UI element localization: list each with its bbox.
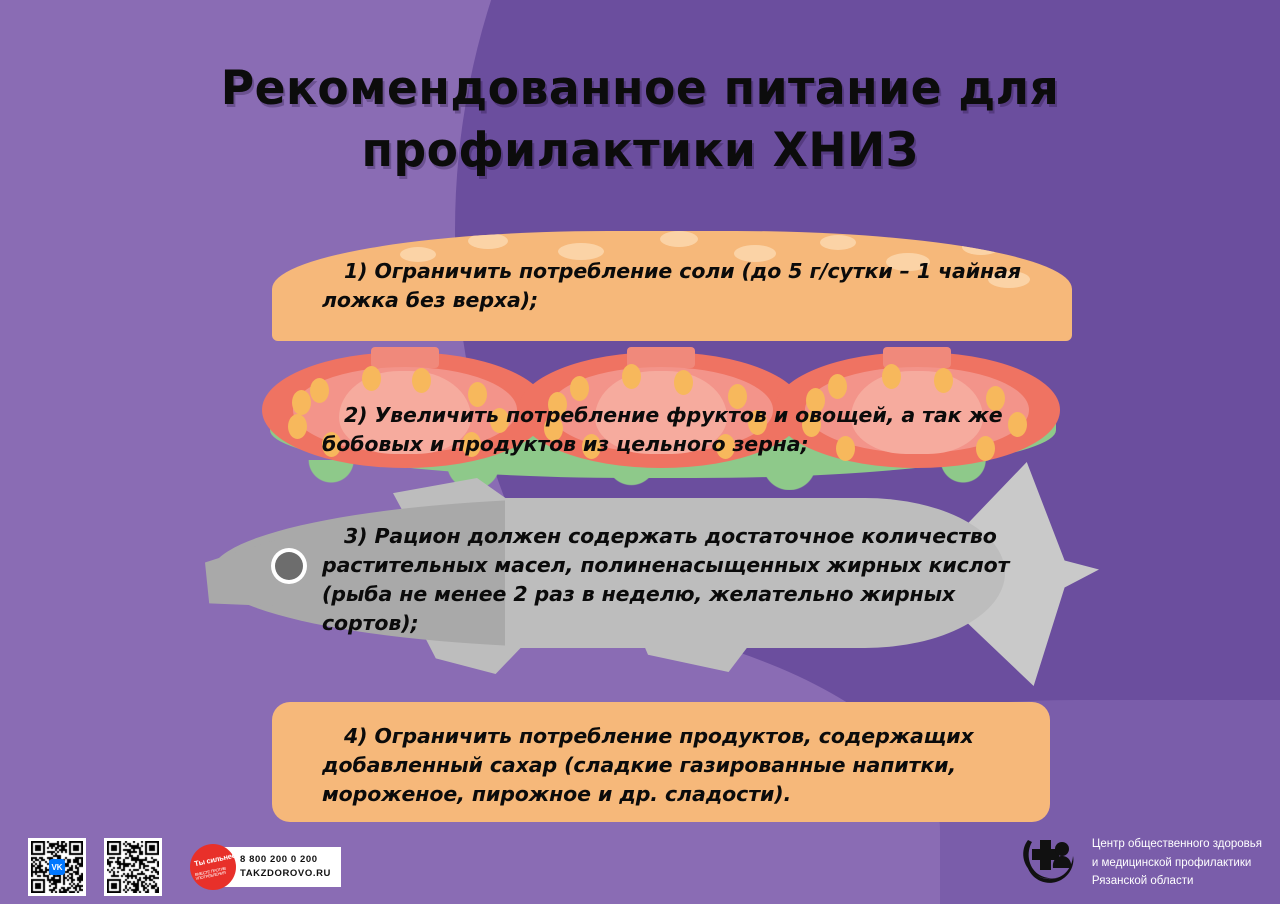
title-line-2: профилактики ХНИЗ xyxy=(19,120,1261,182)
tomato-seed-icon xyxy=(882,364,901,389)
tomato-seed-icon xyxy=(310,378,329,403)
qr-code-secondary[interactable] xyxy=(104,838,162,896)
tomato-seed-icon xyxy=(362,366,381,391)
footer-right-group: Центр общественного здоровья и медицинск… xyxy=(1018,832,1262,894)
health-center-line-1: Центр общественного здоровья xyxy=(1092,835,1262,854)
poster-title: Рекомендованное питание для профилактики… xyxy=(19,58,1261,182)
bread-crumb-icon xyxy=(962,239,1000,255)
footer-left-group: VK Ты сильнее ВМЕСТЕ ПРОТИВ УПОТРЕБЛЕНИЯ… xyxy=(28,838,341,896)
takzdorovo-badge[interactable]: Ты сильнее ВМЕСТЕ ПРОТИВ УПОТРЕБЛЕНИЯ 8 … xyxy=(190,844,341,890)
tomato-seed-icon xyxy=(622,364,641,389)
bread-crumb-icon xyxy=(468,233,508,249)
health-center-emblem-icon xyxy=(1018,832,1080,894)
takzdorovo-circle-logo: Ты сильнее ВМЕСТЕ ПРОТИВ УПОТРЕБЛЕНИЯ xyxy=(190,844,236,890)
recommendation-text-2: 2) Увеличить потребление фруктов и овоще… xyxy=(322,401,1037,459)
recommendation-text-3: 3) Рацион должен содержать достаточное к… xyxy=(322,522,1022,638)
qr-code-vk[interactable]: VK xyxy=(28,838,86,896)
takzdorovo-contact: 8 800 200 0 200 TAKZDOROVO.RU xyxy=(222,847,341,888)
health-center-line-2: и медицинской профилактики xyxy=(1092,854,1262,873)
bread-crumb-icon xyxy=(820,235,856,250)
recommendation-text-1: 1) Ограничить потребление соли (до 5 г/с… xyxy=(322,257,1042,315)
tomato-seed-icon xyxy=(570,376,589,401)
health-center-line-3: Рязанской области xyxy=(1092,872,1262,891)
tomato-seed-icon xyxy=(828,374,847,399)
tomato-seed-icon xyxy=(674,370,693,395)
poster-root: Рекомендованное питание для профилактики… xyxy=(0,0,1280,904)
health-center-name: Центр общественного здоровья и медицинск… xyxy=(1092,835,1262,891)
tomato-seed-icon xyxy=(934,368,953,393)
tomato-seed-icon xyxy=(292,390,311,415)
vk-icon: VK xyxy=(49,859,65,875)
takzdorovo-phone: 8 800 200 0 200 xyxy=(240,853,331,867)
recommendation-text-4: 4) Ограничить потребление продуктов, сод… xyxy=(322,722,1022,809)
bread-crumb-icon xyxy=(660,231,698,247)
fish-eye-icon xyxy=(275,552,303,580)
tomato-seed-icon xyxy=(288,414,307,439)
tomato-stem xyxy=(627,347,696,368)
title-line-1: Рекомендованное питание для xyxy=(19,58,1261,120)
tomato-stem xyxy=(371,347,440,368)
takzdorovo-badge-sub: ВМЕСТЕ ПРОТИВ УПОТРЕБЛЕНИЯ xyxy=(195,865,236,882)
takzdorovo-site: TAKZDOROVO.RU xyxy=(240,867,331,881)
bread-crumb-icon xyxy=(314,235,358,253)
tomato-seed-icon xyxy=(412,368,431,393)
